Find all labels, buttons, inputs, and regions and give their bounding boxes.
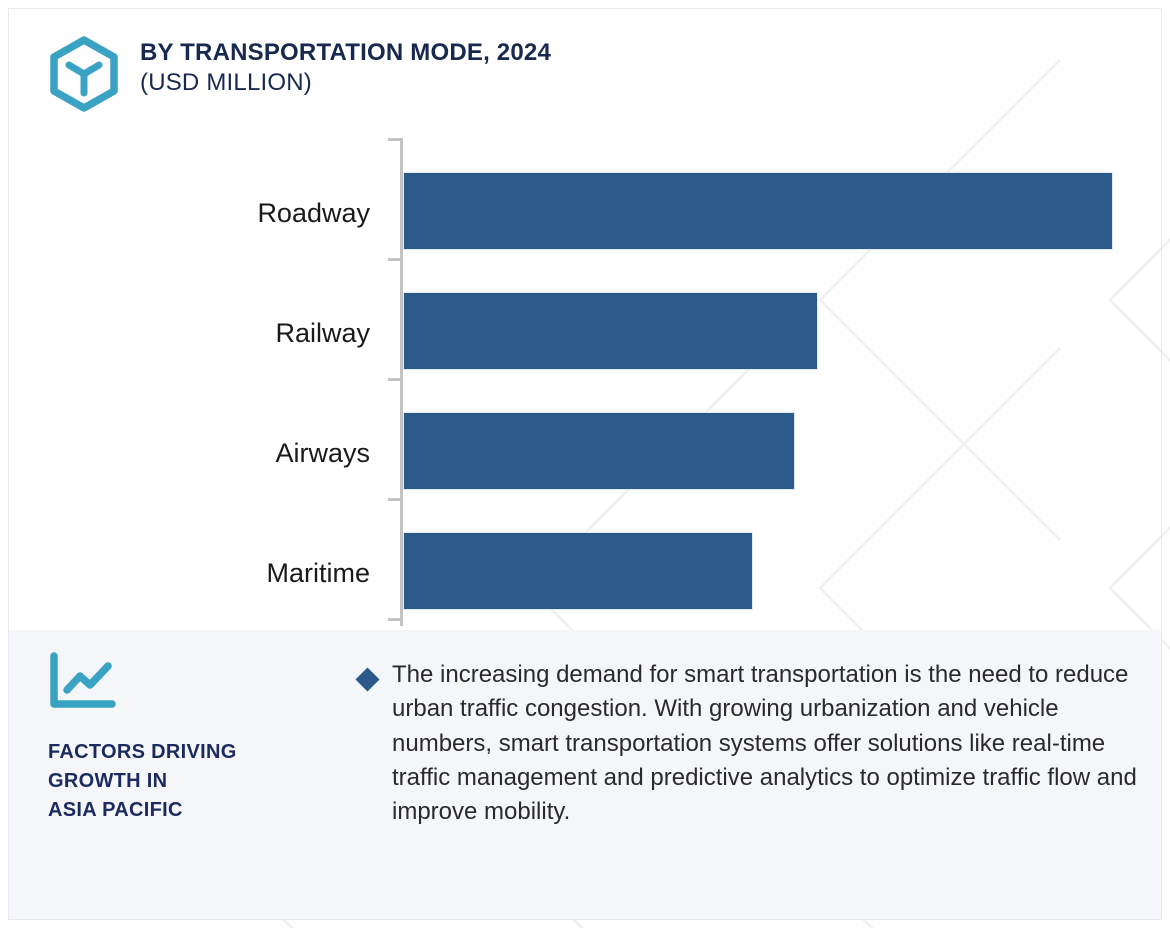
hexagon-cube-icon xyxy=(48,36,120,112)
axis-tick xyxy=(388,498,402,501)
axis-tick xyxy=(388,258,402,261)
chart-header: BY TRANSPORTATION MODE, 2024 (USD MILLIO… xyxy=(48,34,551,112)
footer-heading-line-3: ASIA PACIFIC xyxy=(48,796,348,825)
footer-bullet-item: The increasing demand for smart transpor… xyxy=(359,658,1141,830)
infographic-card: BY TRANSPORTATION MODE, 2024 (USD MILLIO… xyxy=(0,0,1170,928)
footer-heading-line-1: FACTORS DRIVING xyxy=(48,738,348,767)
bar-chart: Roadway Railway Airways Maritime xyxy=(0,130,1170,625)
bar-label-maritime: Maritime xyxy=(30,560,370,587)
bar-maritime[interactable] xyxy=(403,532,753,610)
bar-label-roadway: Roadway xyxy=(30,200,370,227)
footer-heading: FACTORS DRIVING GROWTH IN ASIA PACIFIC xyxy=(48,738,348,825)
page-title: BY TRANSPORTATION MODE, 2024 xyxy=(140,38,551,67)
page-subtitle: (USD MILLION) xyxy=(140,67,551,98)
bar-airways[interactable] xyxy=(403,412,795,490)
chart-row: Airways xyxy=(0,412,1170,490)
chart-row: Railway xyxy=(0,292,1170,370)
bar-label-railway: Railway xyxy=(30,320,370,347)
axis-tick xyxy=(388,378,402,381)
footer-heading-line-2: GROWTH IN xyxy=(48,767,348,796)
title-block: BY TRANSPORTATION MODE, 2024 (USD MILLIO… xyxy=(140,34,551,98)
bar-railway[interactable] xyxy=(403,292,818,370)
footer-left-column: FACTORS DRIVING GROWTH IN ASIA PACIFIC xyxy=(48,652,348,825)
footer-bullet-text: The increasing demand for smart transpor… xyxy=(392,658,1141,830)
diamond-bullet-icon xyxy=(355,667,379,691)
chart-row: Maritime xyxy=(0,532,1170,610)
axis-tick xyxy=(388,138,402,141)
chart-row: Roadway xyxy=(0,172,1170,250)
bar-label-airways: Airways xyxy=(30,440,370,467)
line-chart-icon xyxy=(48,652,118,712)
bar-roadway[interactable] xyxy=(403,172,1113,250)
axis-tick xyxy=(388,618,402,621)
factors-footer-band: FACTORS DRIVING GROWTH IN ASIA PACIFIC T… xyxy=(9,630,1161,919)
